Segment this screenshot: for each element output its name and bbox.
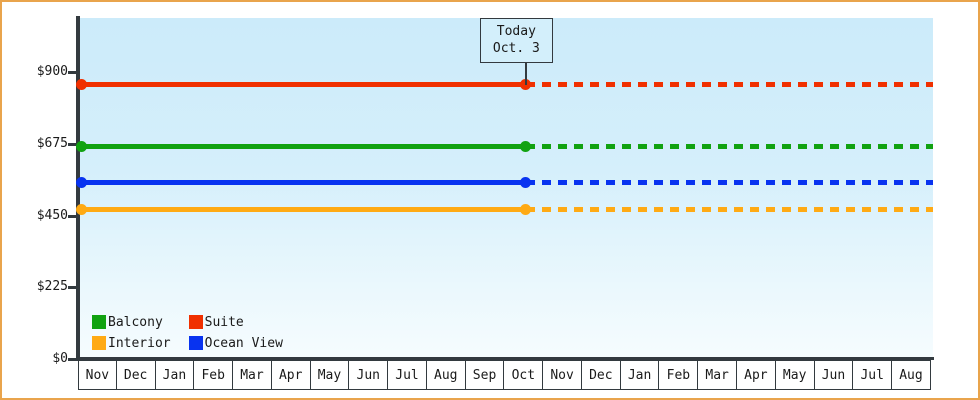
series-line-solid: [80, 207, 526, 212]
x-axis-month-label: Dec: [124, 368, 147, 383]
today-callout: Today Oct. 3: [480, 18, 553, 63]
x-axis-month-cell[interactable]: Jan: [621, 360, 660, 390]
x-axis-month-label: Jul: [395, 368, 418, 383]
legend-item[interactable]: Ocean View: [189, 334, 283, 352]
x-axis-month-cell[interactable]: Mar: [698, 360, 737, 390]
series-marker: [520, 177, 531, 188]
legend-label: Balcony: [108, 315, 163, 330]
plot-area: [80, 18, 933, 359]
legend-label: Ocean View: [205, 336, 283, 351]
x-axis-month-label: Apr: [279, 368, 302, 383]
series-line-forecast: [526, 82, 933, 87]
legend-swatch-icon: [92, 336, 106, 350]
x-axis-month-label: Aug: [434, 368, 457, 383]
y-tick-label: $225: [4, 280, 68, 293]
y-axis-line: [76, 16, 80, 361]
legend-swatch-icon: [92, 315, 106, 329]
legend-item[interactable]: Interior: [92, 334, 171, 352]
x-axis-month-label: Aug: [899, 368, 922, 383]
x-axis-month-cell[interactable]: Apr: [737, 360, 776, 390]
x-axis-month-label: Feb: [667, 368, 690, 383]
x-axis-month-labels: NovDecJanFebMarAprMayJunJulAugSepOctNovD…: [78, 360, 931, 390]
y-tick-mark: [68, 286, 77, 289]
y-tick-label: $450: [4, 209, 68, 222]
series-line-forecast: [526, 180, 933, 185]
x-axis-month-cell[interactable]: Dec: [117, 360, 156, 390]
legend-item[interactable]: Balcony: [92, 313, 171, 331]
price-history-chart: $900$675$450$225$0 Today Oct. 3 BalconyS…: [0, 0, 980, 400]
x-axis-month-cell[interactable]: Jul: [388, 360, 427, 390]
y-tick-label: $0: [4, 352, 68, 365]
x-axis-month-cell[interactable]: Dec: [582, 360, 621, 390]
today-callout-line2: Oct. 3: [493, 40, 540, 57]
x-axis-month-cell[interactable]: May: [311, 360, 350, 390]
series-line-solid: [80, 144, 526, 149]
x-axis-month-label: Sep: [473, 368, 496, 383]
series-marker: [76, 79, 87, 90]
x-axis-month-cell[interactable]: Jun: [349, 360, 388, 390]
x-axis-month-label: Apr: [744, 368, 767, 383]
x-axis-month-cell[interactable]: Aug: [427, 360, 466, 390]
series-marker: [520, 204, 531, 215]
x-axis-month-cell[interactable]: Sep: [466, 360, 505, 390]
x-axis-month-cell[interactable]: Jun: [815, 360, 854, 390]
legend-swatch-icon: [189, 315, 203, 329]
series-line-forecast: [526, 144, 933, 149]
chart-legend: BalconySuiteInteriorOcean View: [92, 313, 283, 352]
legend-label: Interior: [108, 336, 171, 351]
x-axis-month-label: May: [318, 368, 341, 383]
x-axis-month-label: Jun: [822, 368, 845, 383]
x-axis-month-cell[interactable]: Feb: [659, 360, 698, 390]
series-line-solid: [80, 180, 526, 185]
series-marker: [76, 204, 87, 215]
legend-label: Suite: [205, 315, 244, 330]
x-axis-month-cell[interactable]: Nov: [78, 360, 117, 390]
x-axis-month-cell[interactable]: Oct: [504, 360, 543, 390]
x-axis-month-cell[interactable]: Nov: [543, 360, 582, 390]
x-axis-month-cell[interactable]: Mar: [233, 360, 272, 390]
x-axis-month-label: Mar: [240, 368, 263, 383]
x-axis-month-label: Jan: [628, 368, 651, 383]
y-tick-label: $675: [4, 137, 68, 150]
x-axis-month-label: Jun: [357, 368, 380, 383]
series-marker: [76, 141, 87, 152]
today-callout-line1: Today: [493, 23, 540, 40]
x-axis-month-label: Dec: [589, 368, 612, 383]
x-axis-month-cell[interactable]: Aug: [892, 360, 931, 390]
x-axis-month-label: Nov: [550, 368, 573, 383]
x-axis-month-cell[interactable]: Jan: [156, 360, 195, 390]
x-axis-month-label: Jul: [860, 368, 883, 383]
x-axis-month-cell[interactable]: Feb: [194, 360, 233, 390]
x-axis-month-cell[interactable]: Jul: [853, 360, 892, 390]
series-line-solid: [80, 82, 526, 87]
legend-swatch-icon: [189, 336, 203, 350]
legend-item[interactable]: Suite: [189, 313, 283, 331]
x-axis-month-label: Mar: [705, 368, 728, 383]
y-tick-mark: [68, 71, 77, 74]
y-tick-mark: [68, 358, 77, 361]
x-axis-month-label: May: [783, 368, 806, 383]
x-axis-month-label: Oct: [512, 368, 535, 383]
x-axis-month-label: Nov: [86, 368, 109, 383]
y-tick-mark: [68, 215, 77, 218]
x-axis-month-cell[interactable]: May: [776, 360, 815, 390]
series-line-forecast: [526, 207, 933, 212]
x-axis-month-cell[interactable]: Apr: [272, 360, 311, 390]
x-axis-month-label: Feb: [201, 368, 224, 383]
y-tick-label: $900: [4, 65, 68, 78]
series-marker: [76, 177, 87, 188]
x-axis-month-label: Jan: [163, 368, 186, 383]
